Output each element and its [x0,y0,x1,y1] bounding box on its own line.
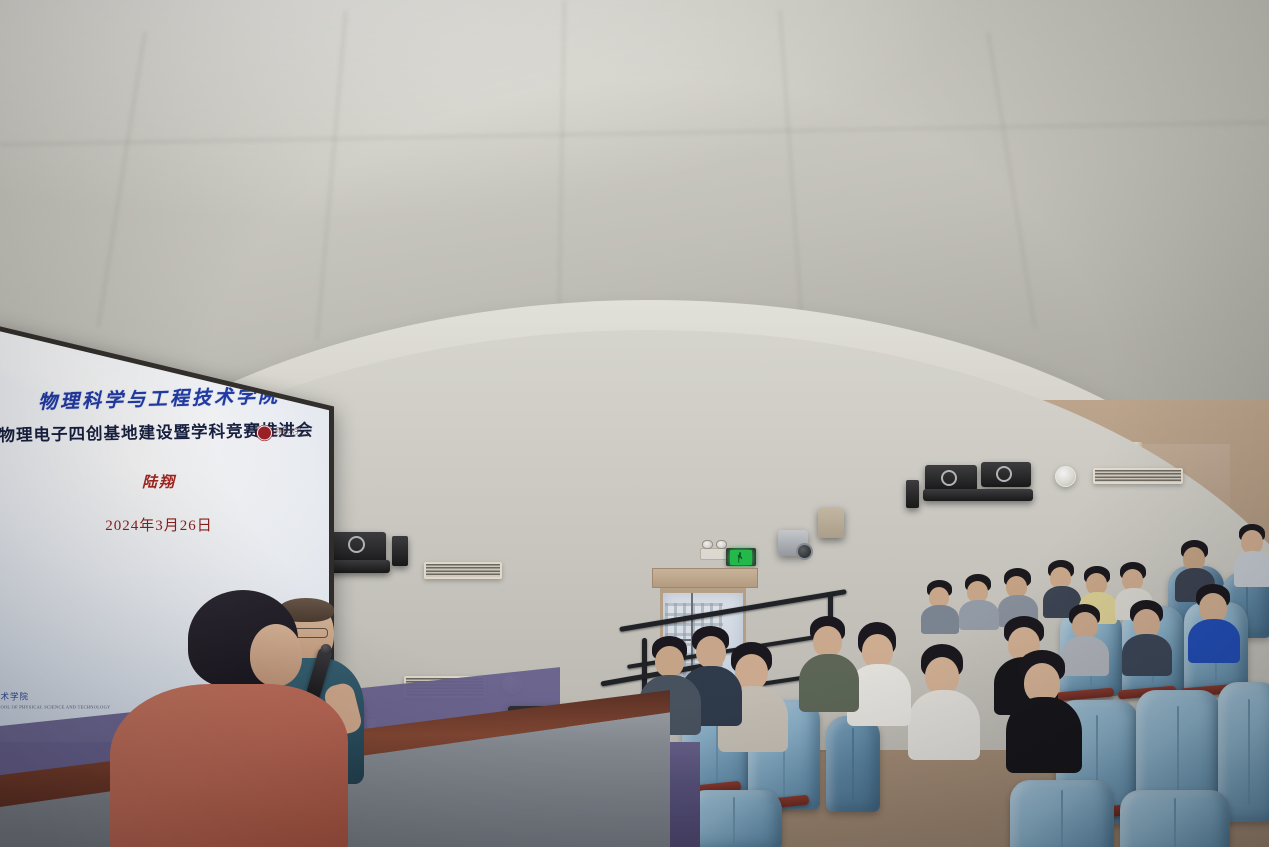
seat-empty[interactable] [1120,790,1230,847]
loudspeaker-side-right [906,480,919,508]
wall-access-panel [818,508,844,538]
dome-light-right [1055,466,1076,487]
audience-member [916,644,970,756]
emergency-lamp-right [716,540,727,549]
loudspeaker-right-b [981,462,1031,487]
loudspeaker-right-base [923,489,1033,501]
seat-empty[interactable] [826,716,880,812]
audience-member [1002,568,1034,622]
photo-canvas: 物理科学与工程技术学院 物理电子四创基地建设暨学科竞赛推进会 陆翔 2024年3… [0,0,1269,847]
audience-member [1126,600,1168,674]
exit-sign [726,548,756,566]
loudspeaker-side-left [392,536,408,566]
university-logo: 师范大学 NORMAL UNIVERSITY [257,426,311,441]
hvac-vent-upper-left [424,562,502,579]
slide-date-line: 2024年3月26日 [0,514,319,535]
slide-presenter-name: 陆翔 [0,471,319,492]
logo-wordmark-en: NORMAL UNIVERSITY [275,435,311,439]
loudspeaker-right-a [925,465,977,491]
audience-member [925,580,955,630]
seat-empty[interactable] [686,790,782,847]
audience-member [806,616,850,710]
seat-empty[interactable] [1010,780,1114,847]
emergency-lamp-left [702,540,713,549]
foreground-attendee [122,590,332,847]
audience-member [1236,524,1269,584]
doorway-header [652,568,758,588]
hvac-vent-right [1093,468,1183,484]
audience-member [963,574,995,626]
audience-member [1192,584,1236,660]
audience-member [854,622,902,722]
audience-member [1014,650,1072,770]
ceiling-projector [778,530,808,556]
university-seal-icon [257,426,272,441]
